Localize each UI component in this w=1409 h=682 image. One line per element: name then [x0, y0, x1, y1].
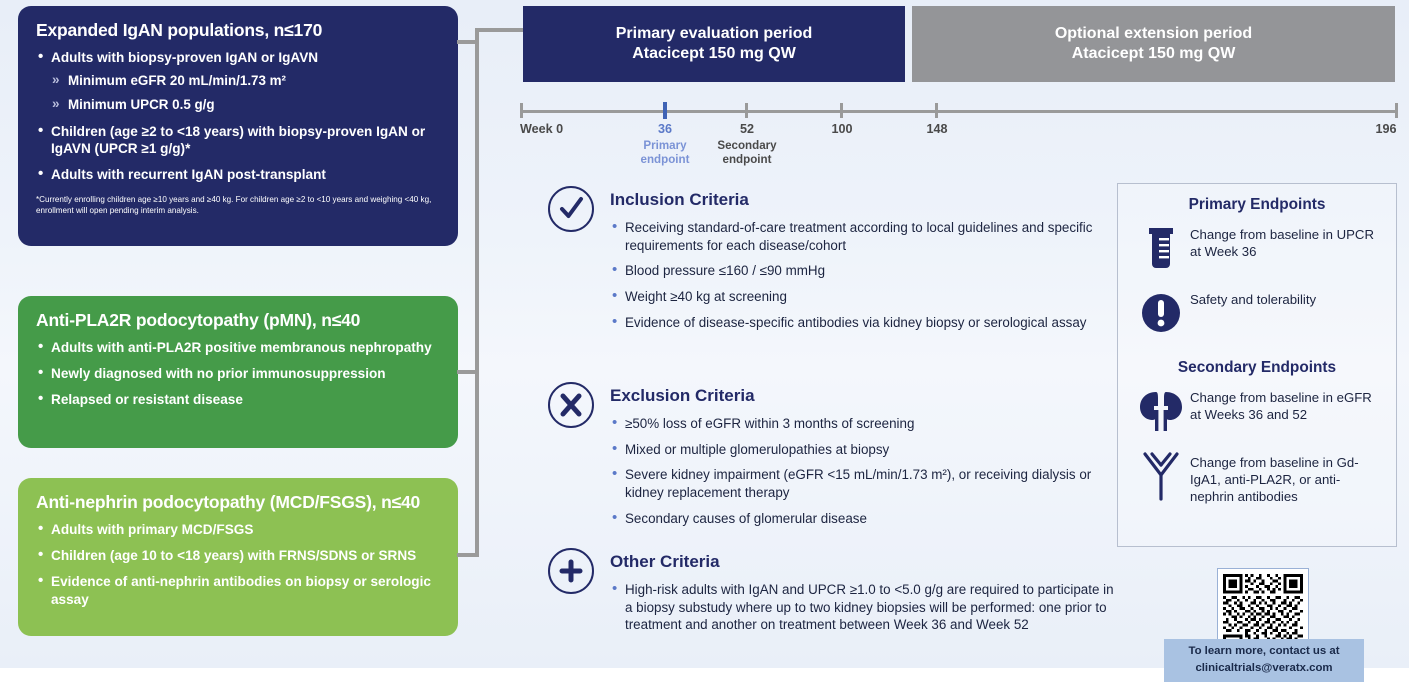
criteria-list: ≥50% loss of eGFR within 3 months of scr… — [610, 415, 1123, 527]
criteria-list: Receiving standard-of-care treatment acc… — [610, 219, 1123, 331]
primary-endpoints-title: Primary Endpoints — [1132, 196, 1382, 214]
list-item: Adults with anti-PLA2R positive membrano… — [36, 339, 440, 356]
list-item: Minimum UPCR 0.5 g/g — [51, 97, 440, 114]
timeline-axis — [520, 110, 1398, 113]
endpoint-text: Safety and tolerability — [1190, 287, 1316, 308]
list-item: Blood pressure ≤160 / ≤90 mmHg — [610, 262, 1123, 280]
timeline-label-196: 196 — [1375, 122, 1396, 136]
criteria-title: Other Criteria — [610, 552, 1123, 572]
sublabel-line1: Primary — [641, 139, 690, 153]
timeline-tick-148 — [935, 103, 938, 118]
criteria-item-text: Severe kidney impairment (eGFR <15 mL/mi… — [625, 467, 1091, 500]
bullet-text: Adults with primary MCD/FSGS — [51, 522, 253, 537]
timeline-label-100: 100 — [831, 122, 852, 136]
bullet-text: Adults with biopsy-proven IgAN or IgAVN — [51, 50, 318, 65]
criteria-item-text: Secondary causes of glomerular disease — [625, 511, 867, 526]
population-bullet-list: Adults with biopsy-proven IgAN or IgAVN … — [36, 49, 440, 183]
list-item: Minimum eGFR 20 mL/min/1.73 m² — [51, 73, 440, 90]
criteria-item-text: Mixed or multiple glomerulopathies at bi… — [625, 442, 889, 457]
criteria-item-text: ≥50% loss of eGFR within 3 months of scr… — [625, 416, 914, 431]
population-footnote: *Currently enrolling children age ≥10 ye… — [36, 194, 440, 216]
banner-line-1: Optional extension period — [1055, 24, 1252, 44]
list-item: Mixed or multiple glomerulopathies at bi… — [610, 441, 1123, 459]
criteria-section-inclusion: Inclusion Criteria Receiving standard-of… — [548, 186, 1123, 339]
criteria-body: Exclusion Criteria ≥50% loss of eGFR wit… — [610, 386, 1123, 527]
timeline-sublabel-52: Secondary endpoint — [717, 139, 776, 168]
banner-line-1: Primary evaluation period — [616, 24, 813, 44]
endpoint-row-safety: Safety and tolerability — [1132, 287, 1382, 339]
list-item: ≥50% loss of eGFR within 3 months of scr… — [610, 415, 1123, 433]
connector-trunk-riser — [475, 28, 479, 44]
endpoint-text: Change from baseline in Gd-IgA1, anti-PL… — [1190, 450, 1382, 505]
sub-bullet-text: Minimum UPCR 0.5 g/g — [68, 97, 215, 112]
bullet-text: Children (age 10 to <18 years) with FRNS… — [51, 548, 416, 563]
check-circle-icon — [548, 186, 594, 232]
study-timeline: Week 0 36 Primary endpoint 52 Secondary … — [520, 108, 1398, 114]
criteria-title: Inclusion Criteria — [610, 190, 1123, 210]
x-circle-icon — [548, 382, 594, 428]
bullet-text: Evidence of anti-nephrin antibodies on b… — [51, 574, 431, 606]
criteria-item-text: Blood pressure ≤160 / ≤90 mmHg — [625, 263, 825, 278]
population-box-igan: Expanded IgAN populations, n≤170 Adults … — [18, 6, 458, 246]
endpoint-row-antibodies: Change from baseline in Gd-IgA1, anti-PL… — [1132, 450, 1382, 505]
kidneys-icon — [1132, 385, 1190, 437]
sublabel-line2: endpoint — [717, 153, 776, 167]
sublabel-line1: Secondary — [717, 139, 776, 153]
cta-line-1: To learn more, contact us at — [1166, 643, 1362, 660]
plus-circle-icon — [548, 548, 594, 594]
timeline-label-148: 148 — [926, 122, 947, 136]
criteria-item-text: Evidence of disease-specific antibodies … — [625, 315, 1086, 330]
list-item: Receiving standard-of-care treatment acc… — [610, 219, 1123, 254]
beaker-icon — [1132, 222, 1190, 274]
criteria-section-exclusion: Exclusion Criteria ≥50% loss of eGFR wit… — [548, 382, 1123, 535]
list-item: Secondary causes of glomerular disease — [610, 510, 1123, 528]
list-item: Relapsed or resistant disease — [36, 391, 440, 408]
criteria-body: Other Criteria High-risk adults with IgA… — [610, 552, 1123, 634]
sub-bullet-list: Minimum eGFR 20 mL/min/1.73 m² Minimum U… — [51, 73, 440, 114]
timeline-label-52: 52 — [740, 122, 754, 136]
contact-cta[interactable]: To learn more, contact us at clinicaltri… — [1164, 639, 1364, 682]
sublabel-line2: endpoint — [641, 153, 690, 167]
list-item: Adults with biopsy-proven IgAN or IgAVN … — [36, 49, 440, 114]
population-title: Expanded IgAN populations, n≤170 — [36, 20, 440, 40]
list-item: Adults with recurrent IgAN post-transpla… — [36, 166, 440, 183]
criteria-list: High-risk adults with IgAN and UPCR ≥1.0… — [610, 581, 1123, 634]
criteria-title: Exclusion Criteria — [610, 386, 1123, 406]
endpoint-row-upcr: Change from baseline in UPCR at Week 36 — [1132, 222, 1382, 274]
endpoints-panel: Primary Endpoints Change from baseline i… — [1117, 183, 1397, 547]
list-item: Newly diagnosed with no prior immunosupp… — [36, 365, 440, 382]
list-item: Evidence of anti-nephrin antibodies on b… — [36, 573, 440, 607]
endpoint-text: Change from baseline in eGFR at Weeks 36… — [1190, 385, 1382, 423]
banner-line-2: Atacicept 150 mg QW — [632, 44, 796, 64]
list-item: Evidence of disease-specific antibodies … — [610, 314, 1123, 332]
banner-line-2: Atacicept 150 mg QW — [1072, 44, 1236, 64]
population-title: Anti-nephrin podocytopathy (MCD/FSGS), n… — [36, 492, 440, 512]
list-item: High-risk adults with IgAN and UPCR ≥1.0… — [610, 581, 1123, 634]
population-bullet-list: Adults with anti-PLA2R positive membrano… — [36, 339, 440, 408]
criteria-item-text: Weight ≥40 kg at screening — [625, 289, 787, 304]
population-box-nephrin: Anti-nephrin podocytopathy (MCD/FSGS), n… — [18, 478, 458, 636]
timeline-tick-week0 — [520, 103, 523, 118]
population-title: Anti-PLA2R podocytopathy (pMN), n≤40 — [36, 310, 440, 330]
connector-vertical-spine — [475, 40, 479, 557]
timeline-sublabel-36: Primary endpoint — [641, 139, 690, 168]
timeline-label-36: 36 — [658, 122, 672, 136]
connector-trunk-to-timeline — [475, 28, 525, 32]
list-item: Weight ≥40 kg at screening — [610, 288, 1123, 306]
population-bullet-list: Adults with primary MCD/FSGS Children (a… — [36, 521, 440, 608]
criteria-section-other: Other Criteria High-risk adults with IgA… — [548, 548, 1123, 642]
list-item: Adults with primary MCD/FSGS — [36, 521, 440, 538]
timeline-tick-36 — [663, 102, 667, 119]
timeline-label-week0: Week 0 — [520, 122, 563, 136]
criteria-item-text: High-risk adults with IgAN and UPCR ≥1.0… — [625, 582, 1114, 632]
banner-primary-evaluation-period: Primary evaluation period Atacicept 150 … — [523, 6, 905, 82]
list-item: Children (age ≥2 to <18 years) with biop… — [36, 123, 440, 157]
timeline-tick-52 — [745, 103, 748, 118]
bullet-text: Adults with anti-PLA2R positive membrano… — [51, 340, 432, 355]
bullet-text: Relapsed or resistant disease — [51, 392, 243, 407]
sub-bullet-text: Minimum eGFR 20 mL/min/1.73 m² — [68, 73, 286, 88]
antibody-icon — [1132, 450, 1190, 502]
population-box-pla2r: Anti-PLA2R podocytopathy (pMN), n≤40 Adu… — [18, 296, 458, 448]
banner-optional-extension-period: Optional extension period Atacicept 150 … — [912, 6, 1395, 82]
alert-circle-icon — [1132, 287, 1190, 339]
poster-canvas: Expanded IgAN populations, n≤170 Adults … — [0, 0, 1409, 668]
list-item: Severe kidney impairment (eGFR <15 mL/mi… — [610, 466, 1123, 501]
secondary-endpoints-title: Secondary Endpoints — [1132, 359, 1382, 377]
bullet-text: Adults with recurrent IgAN post-transpla… — [51, 167, 326, 182]
bullet-text: Newly diagnosed with no prior immunosupp… — [51, 366, 386, 381]
criteria-item-text: Receiving standard-of-care treatment acc… — [625, 220, 1092, 253]
endpoint-text: Change from baseline in UPCR at Week 36 — [1190, 222, 1382, 260]
criteria-body: Inclusion Criteria Receiving standard-of… — [610, 190, 1123, 331]
timeline-tick-100 — [840, 103, 843, 118]
list-item: Children (age 10 to <18 years) with FRNS… — [36, 547, 440, 564]
endpoint-row-egfr: Change from baseline in eGFR at Weeks 36… — [1132, 385, 1382, 437]
bullet-text: Children (age ≥2 to <18 years) with biop… — [51, 124, 425, 156]
timeline-tick-196 — [1395, 103, 1398, 118]
